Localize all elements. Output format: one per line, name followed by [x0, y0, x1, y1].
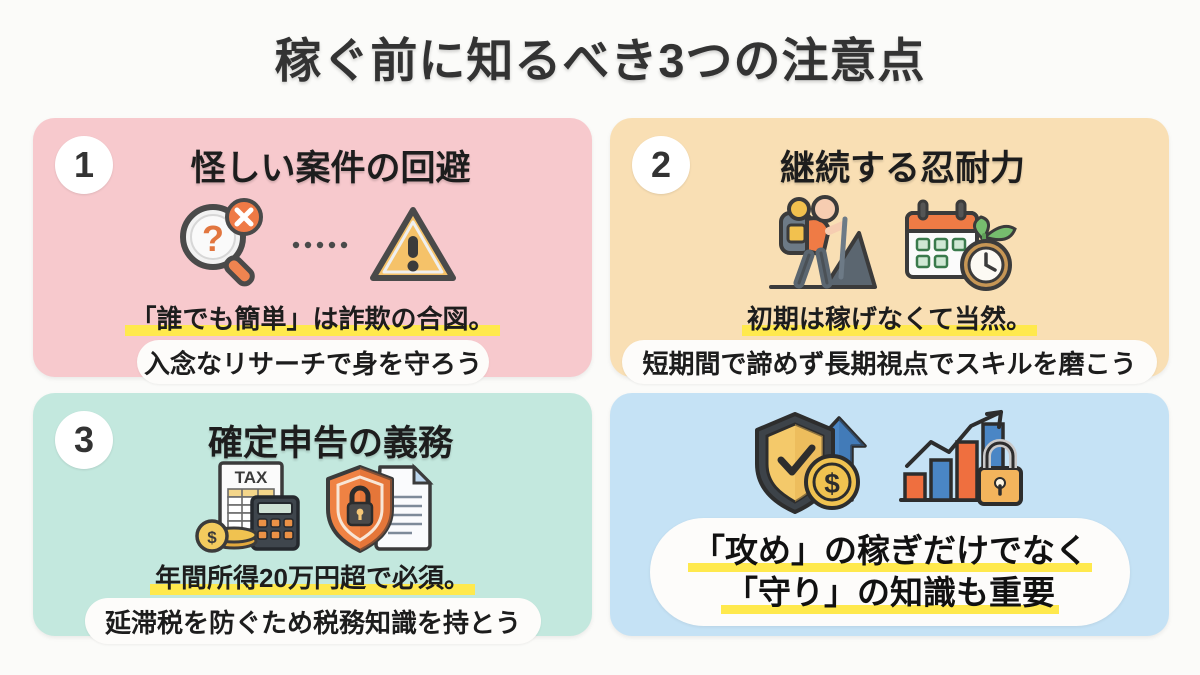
- calendar-icon: [897, 195, 1017, 295]
- warning-triangle-icon: [367, 202, 459, 288]
- shield-check-icon: $: [753, 408, 883, 520]
- magnifier-question-icon: ?: [167, 195, 277, 295]
- bar-chart-trend-icon: [897, 408, 1027, 520]
- card-lead-text: 年間所得20万円超で必須。: [33, 558, 592, 595]
- dotted-connector-icon: [291, 238, 353, 252]
- summary-line-1: 「攻め」の稼ぎだけでなく: [688, 530, 1092, 572]
- svg-text:$: $: [207, 528, 217, 547]
- card-tax-declaration: 3 確定申告の義務 TAX: [33, 393, 592, 636]
- card-title: 継続する忍耐力: [610, 140, 1169, 191]
- card-lead-text: 「誰でも簡単」は詐欺の合図。: [33, 299, 592, 336]
- card-illustration: ?: [33, 190, 592, 300]
- card-advice-pill: 短期間で諦めず長期視点でスキルを磨こう: [622, 340, 1157, 384]
- svg-text:$: $: [824, 468, 840, 499]
- summary-panel: $ 「攻め」の稼ぎ: [610, 393, 1169, 636]
- hiker-climbing-icon: [763, 195, 883, 295]
- coin-dollar-icon: $: [806, 456, 858, 508]
- svg-text:TAX: TAX: [234, 468, 267, 487]
- infographic-canvas: 稼ぐ前に知るべき3つの注意点 1 怪しい案件の回避 ?: [0, 0, 1200, 675]
- svg-text:?: ?: [202, 218, 224, 259]
- card-perseverance: 2 継続する忍耐力: [610, 118, 1169, 377]
- card-title: 怪しい案件の回避: [33, 140, 592, 191]
- card-advice-pill: 延滞税を防ぐため税務知識を持とう: [85, 598, 541, 644]
- card-advice-pill: 入念なリサーチで身を守ろう: [137, 340, 489, 384]
- shield-lock-document-icon: [324, 457, 436, 555]
- card-lead-text: 初期は稼げなくて当然。: [610, 299, 1169, 336]
- tax-form-icon: TAX: [190, 457, 310, 555]
- calculator-icon: [252, 497, 298, 549]
- summary-illustration: $: [610, 401, 1169, 526]
- clock-icon: [962, 241, 1010, 289]
- card-illustration: TAX: [33, 451, 592, 561]
- error-x-badge-icon: [227, 200, 261, 234]
- summary-line-2: 「守り」の知識も重要: [721, 572, 1059, 614]
- summary-message-pill: 「攻め」の稼ぎだけでなく 「守り」の知識も重要: [650, 518, 1130, 626]
- page-title: 稼ぐ前に知るべき3つの注意点: [0, 22, 1200, 91]
- card-suspicious-offers: 1 怪しい案件の回避 ?: [33, 118, 592, 377]
- card-illustration: [610, 190, 1169, 300]
